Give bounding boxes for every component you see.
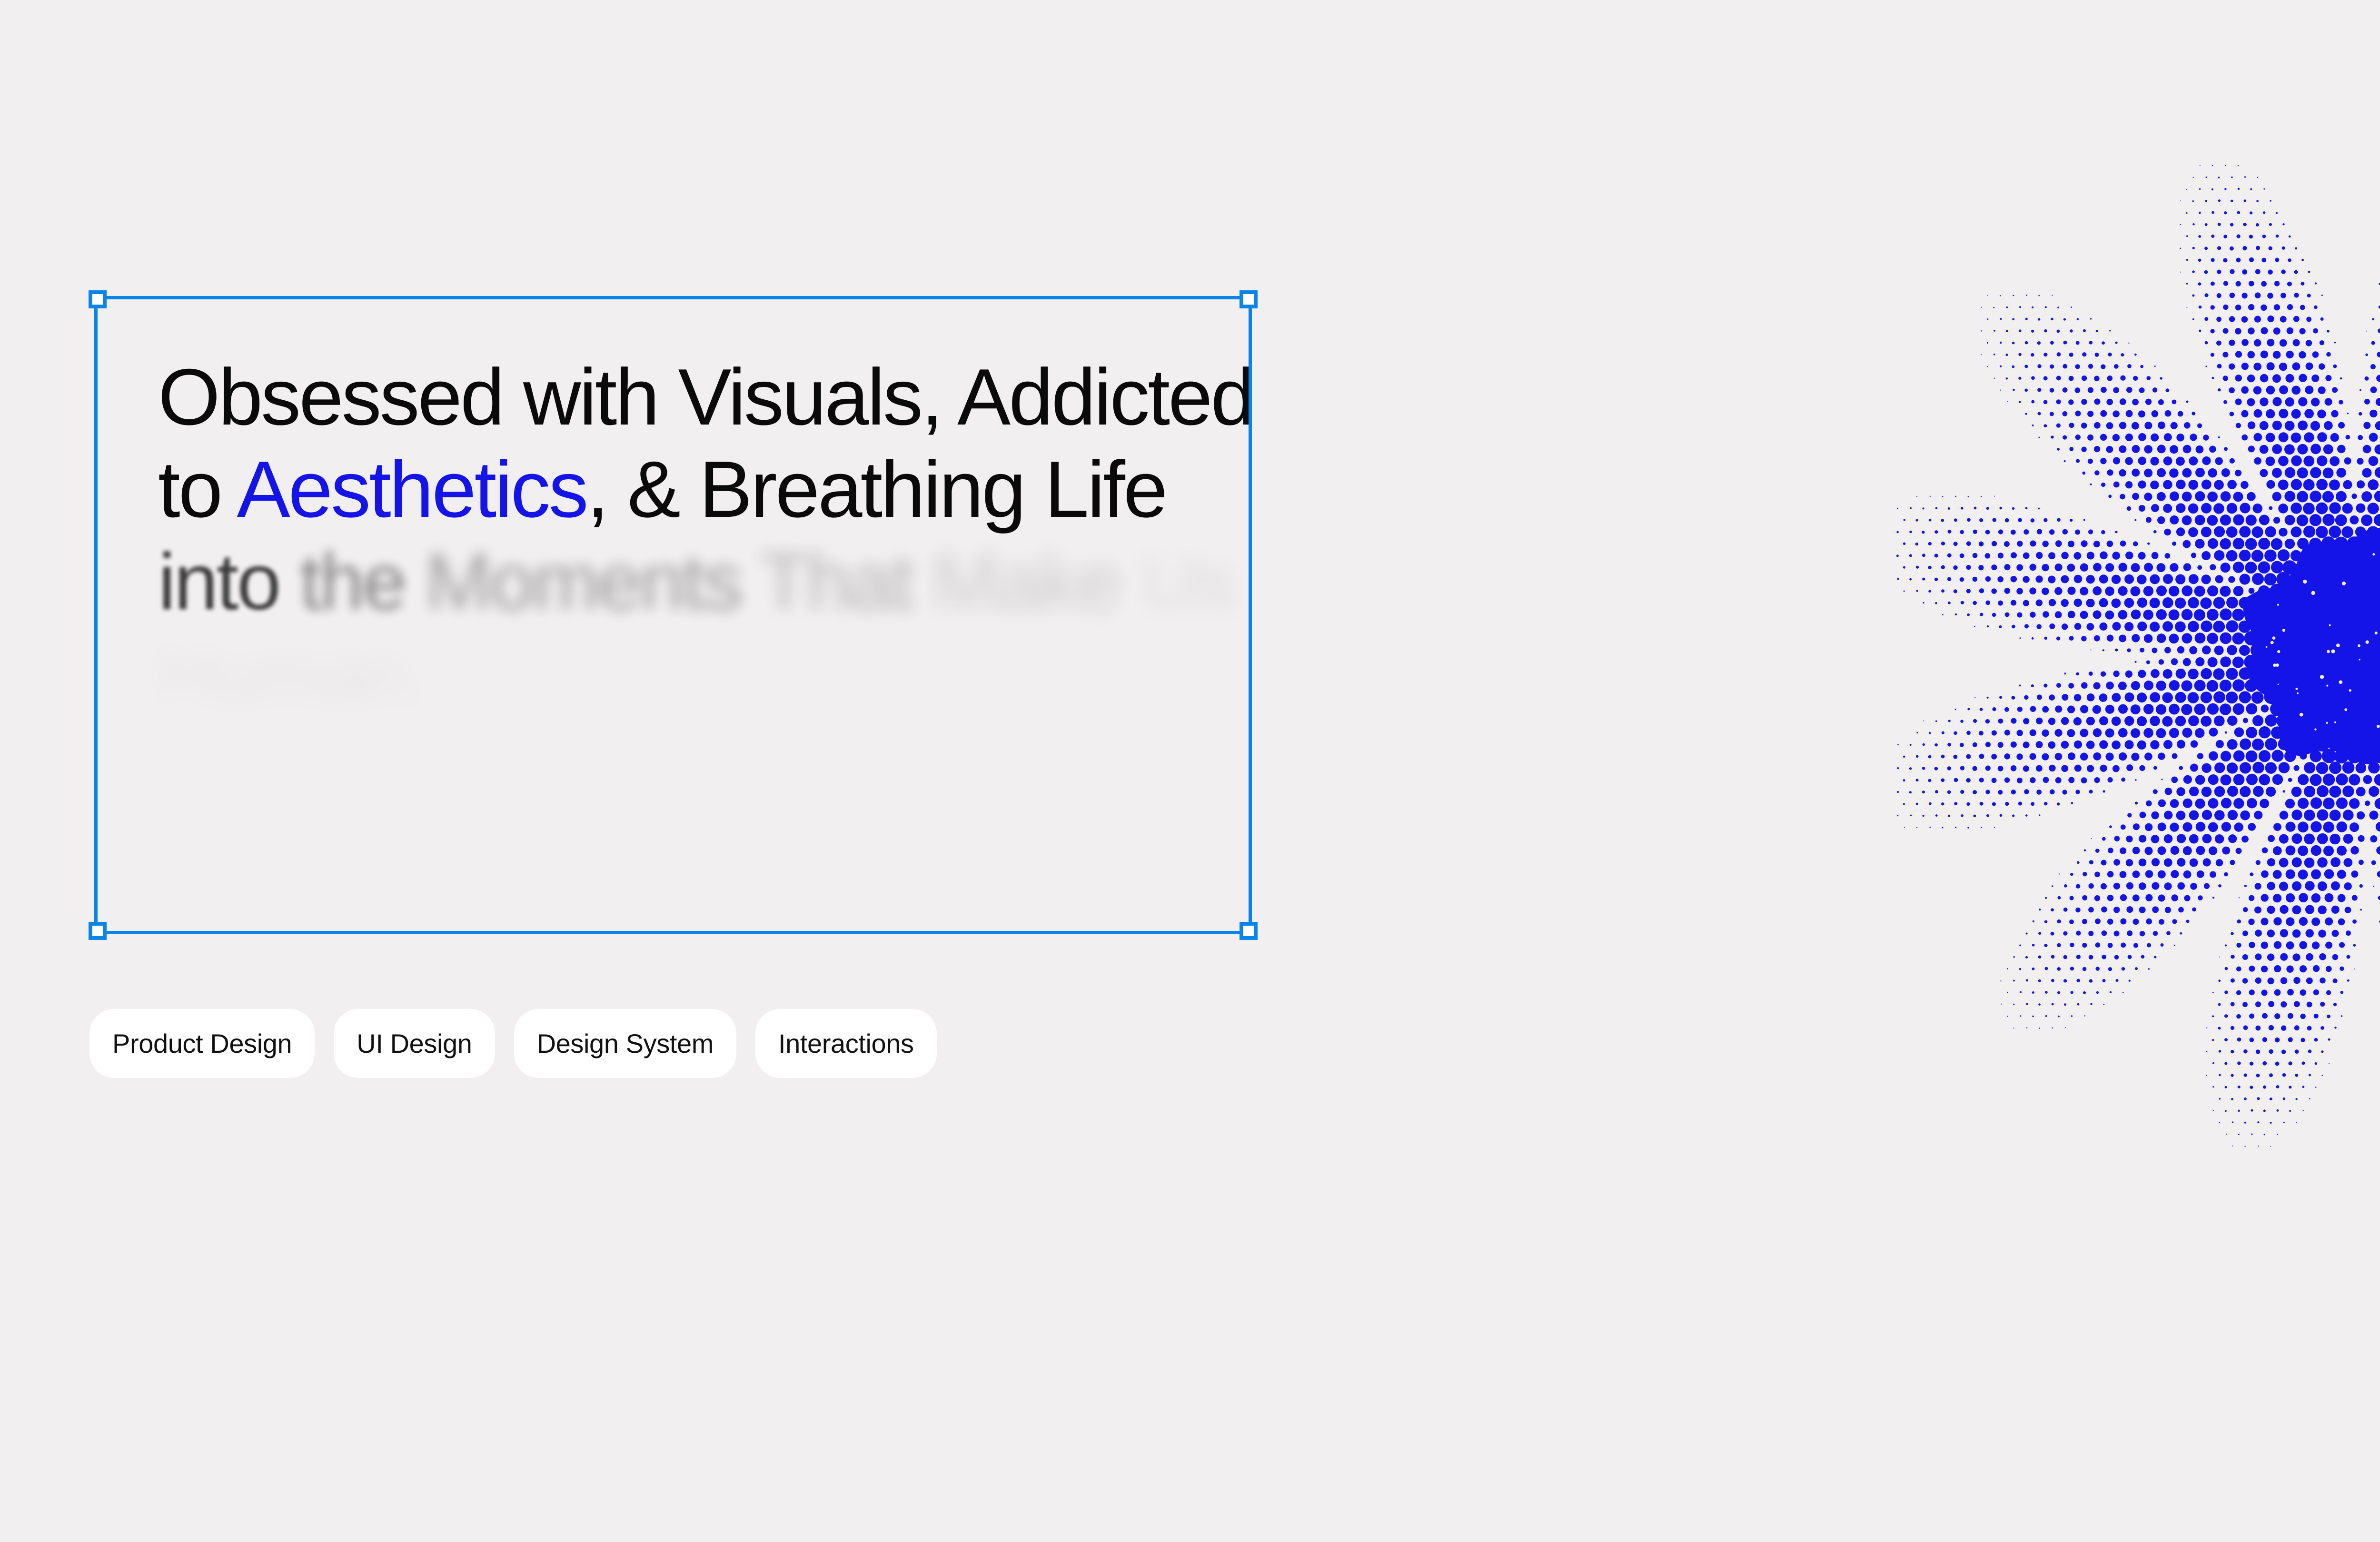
canvas-stage: Obsessed with Visuals, Addicted to Aesth… — [0, 0, 2380, 1542]
selection-handle-bottom-left[interactable] — [89, 922, 107, 940]
selection-handle-bottom-right[interactable] — [1240, 922, 1258, 940]
headline-segment: the — [300, 537, 426, 626]
tag-pill[interactable]: Interactions — [755, 1009, 937, 1078]
headline-segment: That — [760, 537, 932, 626]
tag-pill-label: UI Design — [357, 1028, 472, 1059]
headline-segment: into — [158, 537, 300, 626]
tag-pill[interactable]: Product Design — [89, 1009, 315, 1078]
halftone-flower-graphic — [1894, 124, 2380, 1314]
headline-segment: Us — [1141, 537, 1255, 626]
tag-pill-label: Product Design — [112, 1028, 292, 1059]
headline-segment: Make — [932, 537, 1141, 626]
headline-segment: Moments — [426, 537, 760, 626]
tag-pill[interactable]: UI Design — [334, 1009, 495, 1078]
headline-segment: , & Breathing Life — [587, 445, 1186, 534]
tag-list: Product DesignUI DesignDesign SystemInte… — [89, 1009, 937, 1078]
selection-handle-top-left[interactable] — [89, 290, 107, 308]
selection-handle-top-right[interactable] — [1240, 290, 1258, 308]
headline-segment: Human. — [158, 629, 426, 719]
tag-pill-label: Interactions — [778, 1028, 914, 1059]
headline-accent-word: Aesthetics — [237, 445, 587, 534]
hero-headline: Obsessed with Visuals, Addicted to Aesth… — [158, 351, 1262, 720]
tag-pill-label: Design System — [537, 1028, 714, 1059]
tag-pill[interactable]: Design System — [514, 1009, 736, 1078]
